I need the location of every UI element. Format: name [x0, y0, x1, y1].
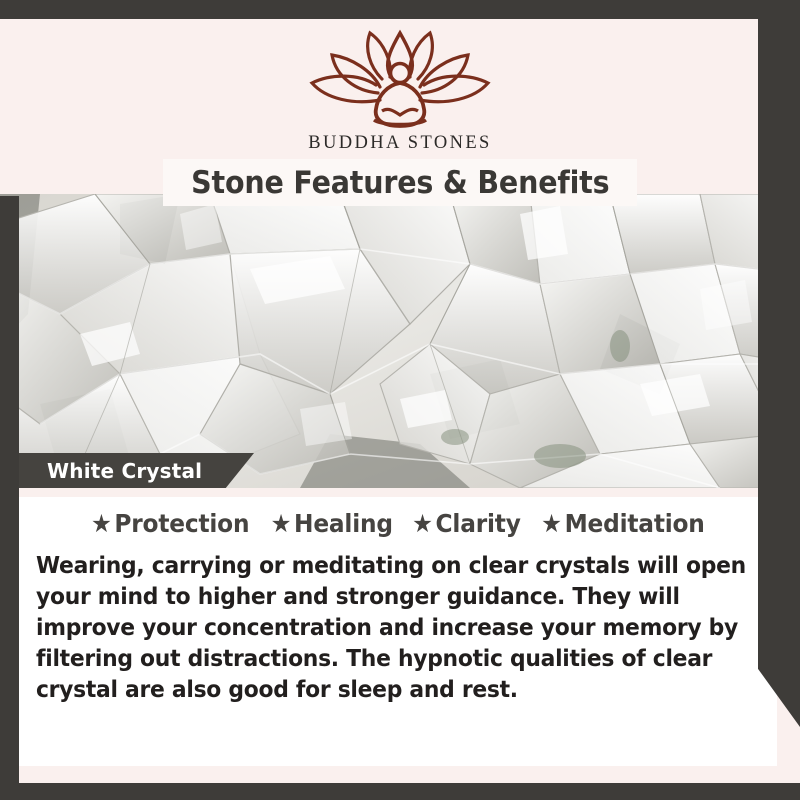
benefit-label: Healing	[294, 509, 393, 538]
page-title: Stone Features & Benefits	[191, 165, 609, 201]
benefit-label: Clarity	[435, 509, 520, 538]
star-icon: ★	[541, 509, 562, 538]
crystal-photo-art	[0, 194, 800, 488]
info-panel: ★Protection ★Healing ★Clarity ★Meditatio…	[19, 497, 777, 766]
description-text: Wearing, carrying or meditating on clear…	[36, 550, 765, 705]
benefit-label: Meditation	[565, 509, 705, 538]
benefit-item-clarity: ★Clarity	[412, 509, 521, 538]
benefits-row: ★Protection ★Healing ★Clarity ★Meditatio…	[19, 509, 777, 538]
star-icon: ★	[270, 509, 291, 538]
frame-top-bar	[0, 0, 800, 19]
header: BUDDHA STONES Stone Features & Benefits	[0, 19, 800, 194]
crystal-photo	[0, 194, 800, 488]
star-icon: ★	[91, 509, 112, 538]
title-banner: Stone Features & Benefits	[163, 159, 637, 206]
product-info-card: BUDDHA STONES Stone Features & Benefits	[0, 0, 800, 800]
lotus-meditation-icon	[302, 27, 498, 131]
benefit-item-protection: ★Protection	[91, 509, 249, 538]
brand-name: BUDDHA STONES	[0, 133, 800, 154]
star-icon: ★	[412, 509, 433, 538]
photo-caption-text: White Crystal	[19, 459, 202, 483]
frame-left-bar	[0, 196, 19, 800]
photo-caption-banner: White Crystal	[19, 453, 254, 488]
benefit-label: Protection	[115, 509, 250, 538]
benefit-item-healing: ★Healing	[270, 509, 392, 538]
frame-right-bar	[758, 0, 800, 727]
brand-logo: BUDDHA STONES	[0, 27, 800, 154]
benefit-item-meditation: ★Meditation	[541, 509, 705, 538]
frame-bottom-bar	[0, 783, 800, 800]
